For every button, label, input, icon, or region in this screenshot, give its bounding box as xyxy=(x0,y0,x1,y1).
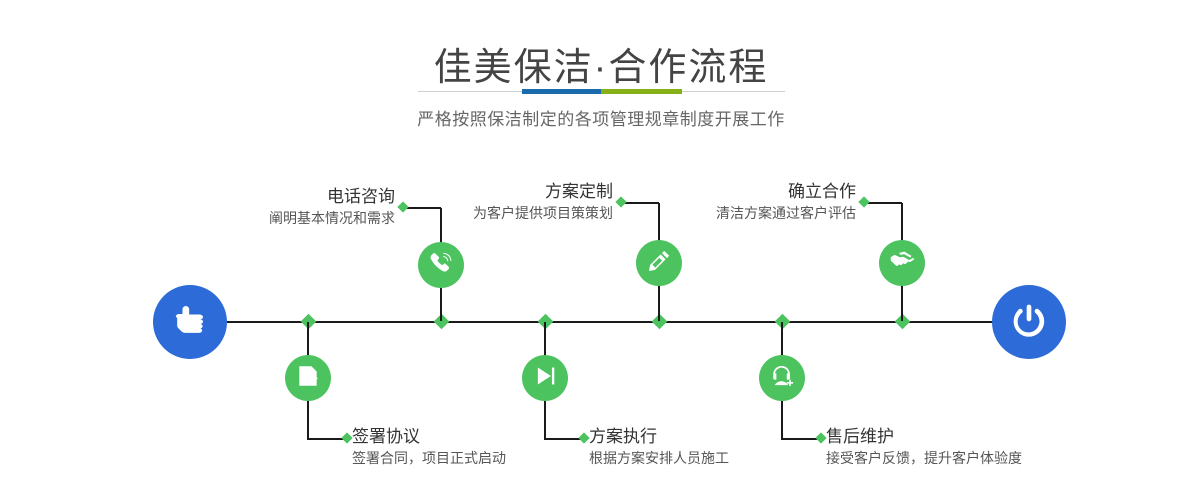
pointing-hand-icon xyxy=(170,300,210,345)
label-node-2 xyxy=(341,432,352,443)
step-icon-4[interactable] xyxy=(522,355,568,401)
page-title: 佳美保洁·合作流程 xyxy=(0,36,1202,91)
divider-segment-green xyxy=(601,89,682,94)
connector-horizontal-5 xyxy=(864,202,902,204)
customer-support-icon xyxy=(769,363,795,394)
step-label-6: 售后维护 接受客户反馈，提升客户体验度 xyxy=(826,426,1156,468)
step-title-3: 方案定制 xyxy=(357,181,613,203)
step-icon-6[interactable] xyxy=(759,355,805,401)
step-title-5: 确立合作 xyxy=(600,181,856,203)
flowchart-canvas: 佳美保洁·合作流程 严格按照保洁制定的各项管理规章制度开展工作 xyxy=(0,0,1202,502)
step-icon-5[interactable] xyxy=(879,240,925,286)
connector-horizontal-2 xyxy=(307,438,345,440)
connector-horizontal-4 xyxy=(544,438,582,440)
step-desc-3: 为客户提供项目策策划 xyxy=(357,203,613,223)
step-icon-3[interactable] xyxy=(636,240,682,286)
title-divider xyxy=(418,91,785,92)
step-desc-5: 清洁方案通过客户评估 xyxy=(600,203,856,223)
connector-horizontal-6 xyxy=(781,438,819,440)
timeline-start-endcap[interactable] xyxy=(153,285,227,359)
step-label-3: 方案定制 为客户提供项目策策划 xyxy=(357,181,613,223)
timeline-end-endcap[interactable] xyxy=(992,285,1066,359)
handshake-icon xyxy=(889,248,915,279)
play-skip-icon xyxy=(532,363,558,394)
step-icon-1[interactable] xyxy=(418,242,464,288)
divider-segment-blue xyxy=(522,89,601,94)
step-title-6: 售后维护 xyxy=(826,426,1156,448)
label-node-5 xyxy=(858,196,869,207)
pencil-design-icon xyxy=(646,248,672,279)
step-label-5: 确立合作 清洁方案通过客户评估 xyxy=(600,181,856,223)
power-icon xyxy=(1009,300,1049,345)
step-desc-6: 接受客户反馈，提升客户体验度 xyxy=(826,448,1156,468)
document-edit-icon xyxy=(295,363,321,394)
step-icon-2[interactable] xyxy=(285,355,331,401)
phone-call-icon xyxy=(428,250,454,281)
page-subtitle: 严格按照保洁制定的各项管理规章制度开展工作 xyxy=(0,105,1202,130)
